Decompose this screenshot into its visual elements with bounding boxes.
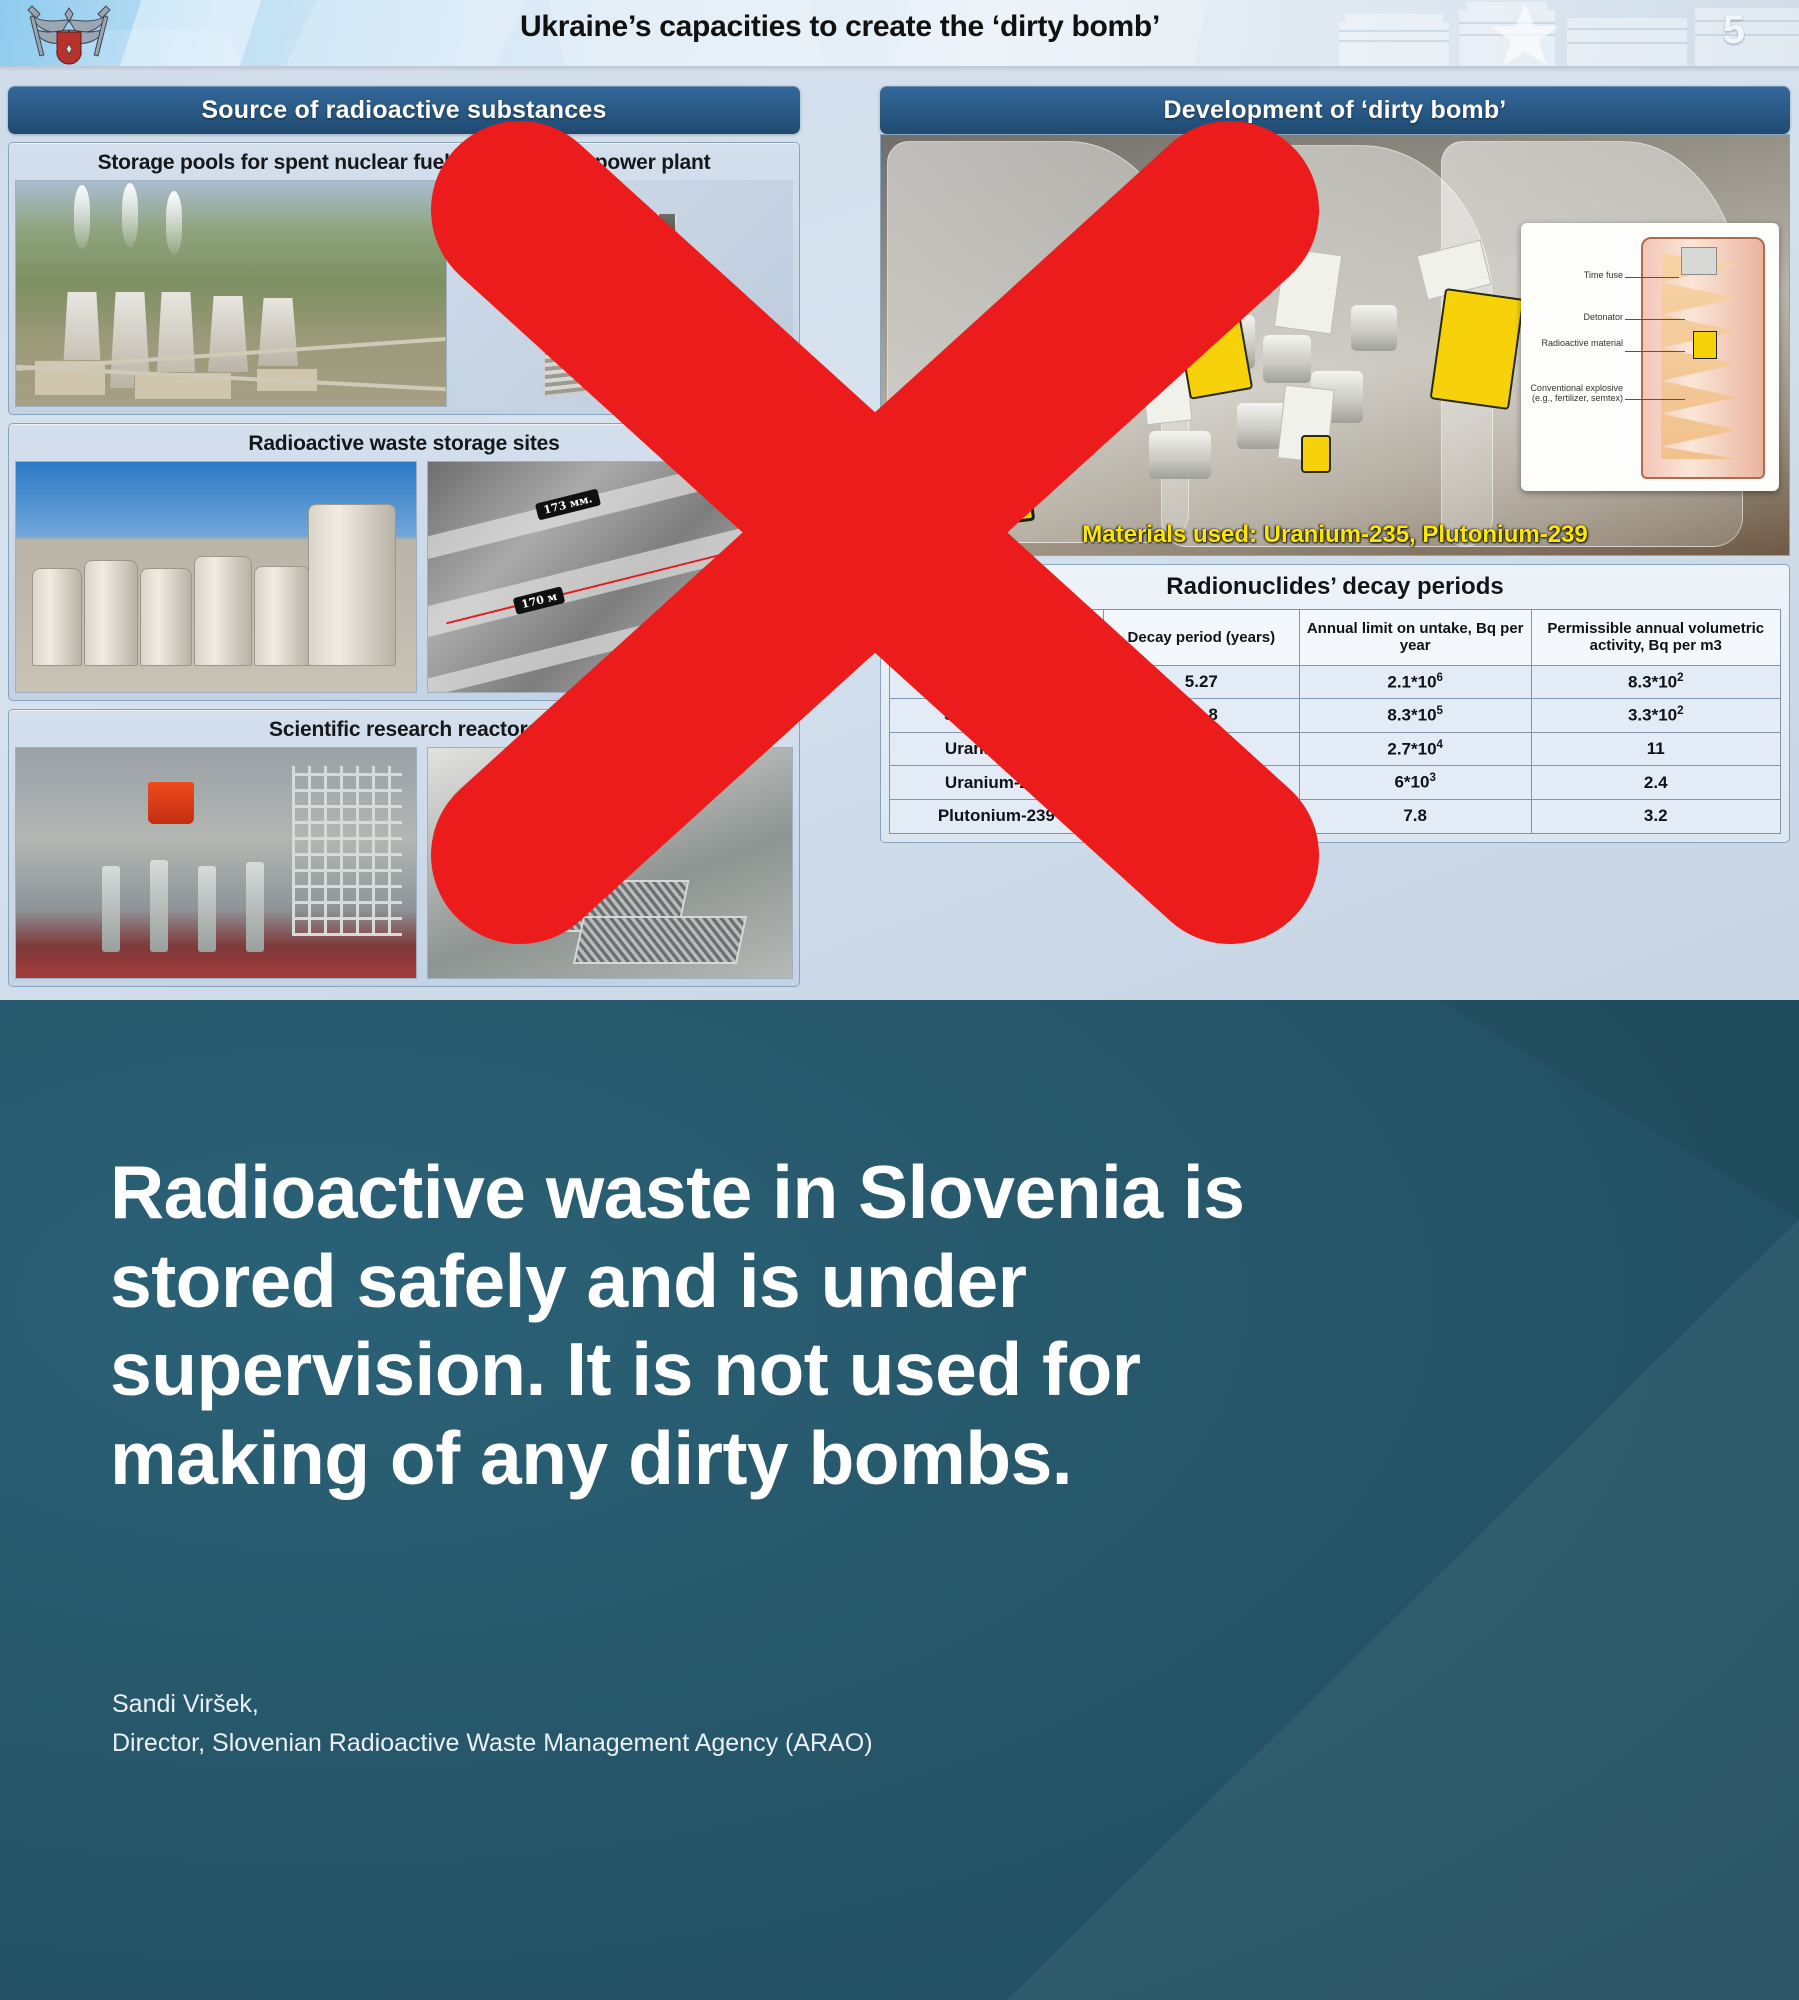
cell-name: Uranium-238 [890, 766, 1104, 800]
reactor-interior-photo [427, 747, 793, 979]
radioaktivno-hazard-sign: RADIOAKTIVNO [889, 411, 1035, 537]
left-panel: Source of radioactive substances Storage… [8, 86, 800, 987]
materials-used-caption: Materials used: Uranium-235, Plutonium-2… [881, 521, 1789, 549]
diagram-label-detonator: Detonator [1527, 312, 1623, 322]
table-row: Strontium-90 28.8 8.3*105 3.3*102 [890, 699, 1781, 733]
col-annual-limit: Annual limit on untake, Bq per year [1299, 610, 1531, 666]
dirty-bomb-diagram: Time fuse Detonator Radioactive material… [1521, 223, 1779, 491]
diagram-label-time-fuse: Time fuse [1527, 270, 1623, 280]
storage-pools-card: Storage pools for spent nuclear fuel at … [8, 142, 800, 415]
left-panel-heading: Source of radioactive substances [201, 96, 606, 125]
satellite-imagery-photo: 173 мм. 170 м [427, 461, 793, 693]
table-row: Plutonium-239 2.41*104 7.8 3.2 [890, 800, 1781, 834]
cell-decay: 2.41*104 [1103, 800, 1299, 834]
diagram-label-conventional-explosive: Conventional explosive (e.g., fertilizer… [1527, 383, 1623, 404]
cell-limit: 6*103 [1299, 766, 1531, 800]
cell-activity: 8.3*102 [1531, 665, 1781, 699]
slide-page-number: 5 [1723, 8, 1745, 53]
nuclear-plant-photo [15, 180, 447, 407]
cell-name: Plutonium-239 [890, 800, 1104, 834]
storage-pools-title: Storage pools for spent nuclear fuel at … [15, 151, 793, 175]
table-row: Cobalt-60 5.27 2.1*106 8.3*102 [890, 665, 1781, 699]
cell-decay: 5.27 [1103, 665, 1299, 699]
cell-limit: 2.7*104 [1299, 732, 1531, 766]
cell-decay: 7.04*10 [1103, 732, 1299, 766]
cell-name: Uranium-235 [890, 732, 1104, 766]
slide-header-band: Ukraine’s capacities to create the ‘dirt… [0, 0, 1799, 72]
right-panel: Development of ‘dirty bomb’ [880, 86, 1790, 843]
cell-decay: 4.47*109 [1103, 766, 1299, 800]
research-reactor-photo [15, 747, 417, 979]
factcheck-headline: Radioactive waste in Slovenia is stored … [110, 1148, 1380, 1502]
slide-title: Ukraine’s capacities to create the ‘dirt… [330, 10, 1350, 44]
attribution-role: Director, Slovenian Radioactive Waste Ma… [112, 1724, 1312, 1763]
table-body: Cobalt-60 5.27 2.1*106 8.3*102 Strontium… [890, 665, 1781, 833]
left-panel-header: Source of radioactive substances [8, 86, 800, 134]
table-row: Uranium-235 7.04*10 2.7*104 11 [890, 732, 1781, 766]
attribution-name: Sandi Viršek, [112, 1685, 1312, 1724]
fuel-rod-illustration [457, 180, 793, 405]
decay-periods-card: Radionuclides’ decay periods Radionuclid… [880, 564, 1790, 843]
table-row: Uranium-238 4.47*109 6*103 2.4 [890, 766, 1781, 800]
decay-table-title: Radionuclides’ decay periods [889, 573, 1781, 601]
presentation-slide: Ukraine’s capacities to create the ‘dirt… [0, 0, 1799, 1000]
cell-activity: 3.3*102 [1531, 699, 1781, 733]
diagram-label-radioactive-material: Radioactive material [1527, 338, 1623, 348]
cell-limit: 8.3*105 [1299, 699, 1531, 733]
cell-limit: 2.1*106 [1299, 665, 1531, 699]
research-reactors-title: Scientific research reactors [15, 718, 793, 742]
factcheck-attribution: Sandi Viršek, Director, Slovenian Radioa… [112, 1685, 1312, 1763]
factcheck-graphic: Ukraine’s capacities to create the ‘dirt… [0, 0, 1799, 2000]
cell-activity: 2.4 [1531, 766, 1781, 800]
right-panel-heading: Development of ‘dirty bomb’ [1164, 96, 1507, 125]
radioactive-materials-photo: RADIOAKTIVNO Time fuse Detonator Radioac… [880, 134, 1790, 556]
col-decay-period: Decay period (years) [1103, 610, 1299, 666]
waste-storage-card: Radioactive waste storage sites [8, 423, 800, 701]
waste-storage-title: Radioactive waste storage sites [15, 432, 793, 456]
header-divider [0, 66, 1799, 72]
waste-silos-photo [15, 461, 417, 693]
right-panel-header: Development of ‘dirty bomb’ [880, 86, 1790, 134]
col-radionuclide: Radionuclide [890, 610, 1104, 666]
research-reactors-card: Scientific research reactors [8, 709, 800, 987]
radionuclides-decay-table: Radionuclide Decay period (years) Annual… [889, 609, 1781, 834]
cell-limit: 7.8 [1299, 800, 1531, 834]
cell-name: Cobalt-60 [890, 665, 1104, 699]
cell-decay: 28.8 [1103, 699, 1299, 733]
factcheck-panel: Radioactive waste in Slovenia is stored … [0, 1000, 1799, 2000]
table-header-row: Radionuclide Decay period (years) Annual… [890, 610, 1781, 666]
col-permissible-activity: Permissible annual volumetric activity, … [1531, 610, 1781, 666]
cell-activity: 3.2 [1531, 800, 1781, 834]
radiation-trefoil-icon [926, 425, 995, 494]
star-icon [1489, 2, 1561, 68]
cell-name: Strontium-90 [890, 699, 1104, 733]
cell-activity: 11 [1531, 732, 1781, 766]
russian-mod-eagle-emblem [10, 2, 128, 70]
cell-decay-value: 5.27 [1185, 672, 1218, 691]
